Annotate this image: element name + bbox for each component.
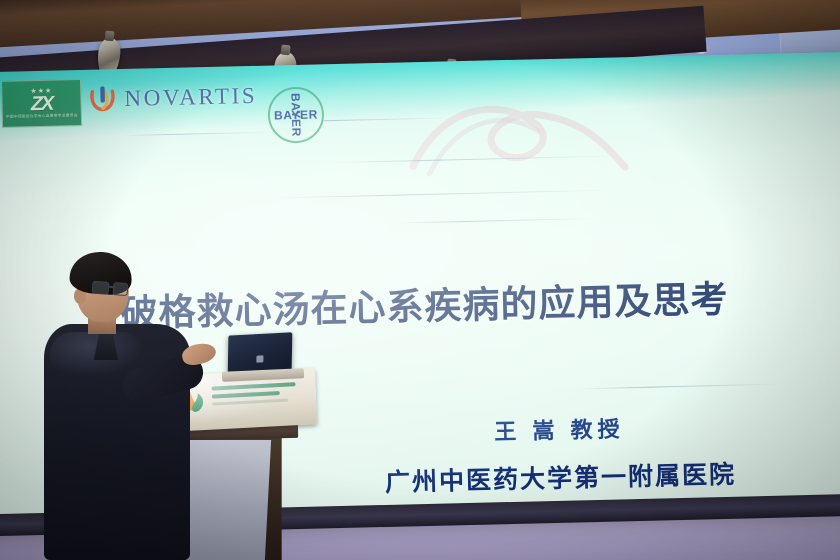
bayer-word-vertical: BAYER: [288, 93, 303, 137]
screen-scanline: [394, 218, 594, 224]
podium-banner-line-1: [212, 382, 296, 390]
speaker-person: [30, 252, 210, 560]
bayer-cross-icon: BAYER BAYER: [269, 88, 322, 141]
screen-scanline: [274, 190, 614, 199]
presentation-photo: ★★★ ZX 中国中西医结合学会心血管病专业委员会 NOVARTIS BA: [0, 0, 840, 560]
podium-banner-line-2: [212, 391, 280, 399]
novartis-mark-icon: [89, 85, 116, 114]
slide-organization: 广州中医药大学第一附属医院: [280, 452, 840, 501]
podium-banner-line-3: [212, 399, 288, 406]
logo-mark-text: ZX: [31, 94, 53, 114]
slide-speaker-name: 王 嵩 教授: [279, 406, 840, 451]
logo-subtitle: 中国中西医结合学会心血管病专业委员会: [6, 113, 78, 120]
screen-scanline: [578, 384, 778, 390]
glasses-lens-right: [113, 282, 129, 296]
novartis-logo: NOVARTIS: [89, 82, 257, 114]
novartis-wordmark: NOVARTIS: [124, 83, 257, 112]
logo-divider-rule: [324, 117, 454, 121]
bayer-logo: BAYER BAYER: [267, 86, 324, 143]
speaker-glasses: [92, 281, 133, 297]
laptop-brand-logo: [256, 355, 263, 362]
zx-association-logo: ★★★ ZX 中国中西医结合学会心血管病专业委员会: [1, 79, 82, 128]
glasses-lens-left: [92, 281, 110, 295]
podium-banner-text: [212, 382, 297, 409]
